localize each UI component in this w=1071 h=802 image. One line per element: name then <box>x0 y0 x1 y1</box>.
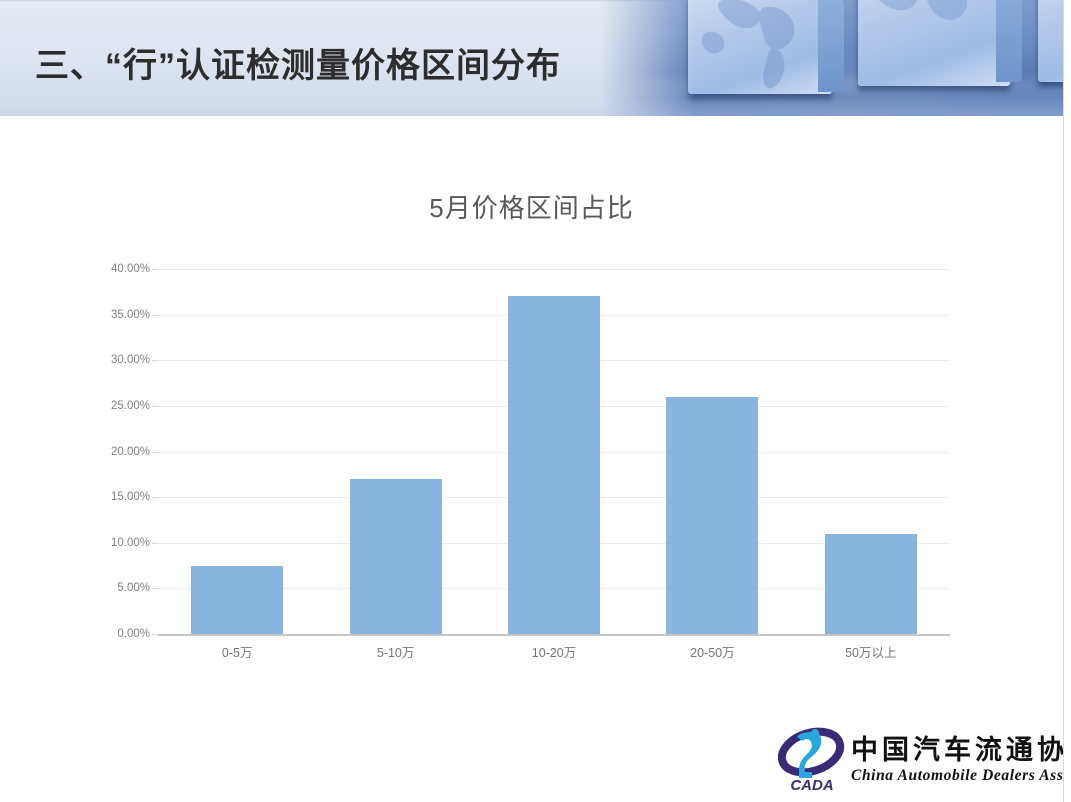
y-axis-tick-mark <box>152 315 158 316</box>
y-axis-tick-label: 35.00% <box>94 309 150 321</box>
bar-5 <box>825 534 917 634</box>
page-title: 三、“行”认证检测量价格区间分布 <box>35 38 561 87</box>
y-axis-tick-label: 15.00% <box>94 491 150 503</box>
world-map-svg <box>688 0 832 94</box>
y-axis-tick-label: 40.00% <box>94 263 150 275</box>
y-axis-tick-mark <box>152 360 158 361</box>
x-axis-tick-label: 5-10万 <box>377 642 415 661</box>
decorative-cube-2 <box>858 0 1010 86</box>
y-axis-tick-label: 0.00% <box>94 628 150 640</box>
bar-1 <box>191 566 283 634</box>
y-axis-tick-mark <box>152 452 158 453</box>
y-axis-tick-label: 25.00% <box>94 400 150 412</box>
decorative-cube-3 <box>1038 0 1063 82</box>
bar-3 <box>508 296 600 634</box>
cada-emblem-icon: CADA <box>778 726 848 794</box>
chart-title: 5月价格区间占比 <box>0 188 1063 225</box>
chart-container: 5月价格区间占比 0.00%5.00%10.00%15.00%20.00%25.… <box>0 116 1063 802</box>
slide-canvas: 三、“行”认证检测量价格区间分布 5月价格区间占比 0.00%5.00%10.0… <box>0 0 1064 802</box>
y-axis-tick-mark <box>152 406 158 407</box>
y-axis-tick-label: 10.00% <box>94 537 150 549</box>
bar-4 <box>666 397 758 634</box>
cube-world-map-texture <box>688 0 832 94</box>
y-axis-tick-mark <box>152 588 158 589</box>
y-axis-tick-label: 20.00% <box>94 446 150 458</box>
y-axis-tick-label: 30.00% <box>94 354 150 366</box>
logo-chinese-name: 中国汽车流通协会 <box>851 728 1064 767</box>
x-axis-tick-label: 0-5万 <box>222 642 253 661</box>
logo-mark-text: CADA <box>790 777 833 794</box>
world-map-svg <box>858 0 1010 86</box>
x-axis-tick-label: 20-50万 <box>690 642 734 661</box>
slide-header-banner: 三、“行”认证检测量价格区间分布 <box>0 0 1063 116</box>
x-axis-tick-label: 50万以上 <box>845 642 896 661</box>
logo-figure-head <box>811 729 820 741</box>
cube-world-map-texture <box>858 0 1010 86</box>
y-axis-tick-mark <box>152 543 158 544</box>
x-axis-baseline <box>158 634 950 636</box>
organization-logo: CADA 中国汽车流通协会 China Automobile Dealers A… <box>778 726 1058 794</box>
chart-plot-area: 0.00%5.00%10.00%15.00%20.00%25.00%30.00%… <box>158 269 950 634</box>
x-axis-tick-label: 10-20万 <box>532 642 576 661</box>
bar-2 <box>350 479 442 634</box>
y-axis-tick-label: 5.00% <box>94 582 150 594</box>
gridline <box>158 269 950 270</box>
cada-logo-mark: CADA <box>778 726 848 794</box>
cube-side-face-2 <box>996 0 1022 82</box>
decorative-cube-1 <box>688 0 832 94</box>
y-axis-tick-mark <box>152 497 158 498</box>
y-axis-tick-mark <box>152 269 158 270</box>
logo-english-name: China Automobile Dealers Association <box>851 767 1064 785</box>
header-decorative-photo <box>600 0 1063 116</box>
cube-side-face-1 <box>818 0 844 92</box>
